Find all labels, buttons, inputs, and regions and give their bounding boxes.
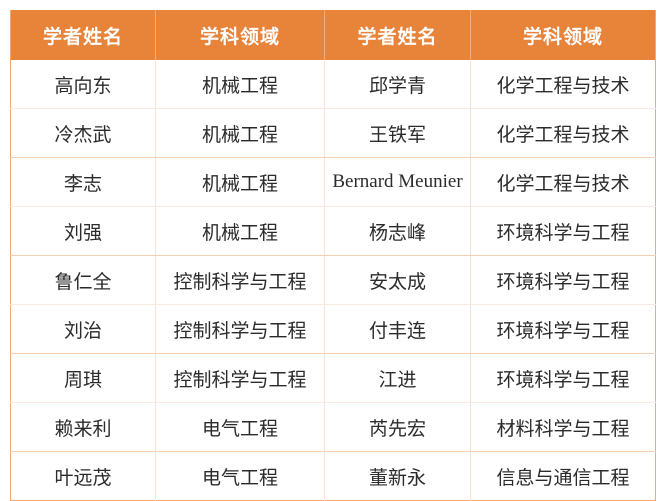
- cell-discipline-right: 环境科学与工程: [471, 207, 656, 256]
- column-header-scholar-name-right: 学者姓名: [325, 10, 471, 60]
- table-row: 刘强机械工程杨志峰环境科学与工程: [11, 207, 656, 256]
- table-row: 周琪控制科学与工程江进环境科学与工程: [11, 354, 656, 403]
- cell-discipline-left: 电气工程: [156, 452, 325, 501]
- cell-scholar-name-right: 芮先宏: [325, 403, 471, 452]
- cell-scholar-name-right: 付丰连: [325, 305, 471, 354]
- cell-scholar-name-left: 刘强: [11, 207, 156, 256]
- cell-discipline-right: 化学工程与技术: [471, 158, 656, 207]
- cell-discipline-left: 控制科学与工程: [156, 305, 325, 354]
- cell-scholar-name-right: 杨志峰: [325, 207, 471, 256]
- table-row: 赖来利电气工程芮先宏材料科学与工程: [11, 403, 656, 452]
- table-row: 李志机械工程Bernard Meunier化学工程与技术: [11, 158, 656, 207]
- cell-discipline-left: 机械工程: [156, 207, 325, 256]
- cell-scholar-name-left: 周琪: [11, 354, 156, 403]
- cell-discipline-left: 机械工程: [156, 109, 325, 158]
- table-row: 高向东机械工程邱学青化学工程与技术: [11, 60, 656, 109]
- cell-discipline-left: 机械工程: [156, 60, 325, 109]
- table-row: 叶远茂电气工程董新永信息与通信工程: [11, 452, 656, 501]
- cell-scholar-name-left: 刘治: [11, 305, 156, 354]
- cell-discipline-left: 控制科学与工程: [156, 354, 325, 403]
- cell-scholar-name-right: 江进: [325, 354, 471, 403]
- cell-discipline-right: 材料科学与工程: [471, 403, 656, 452]
- cell-scholar-name-right: 邱学青: [325, 60, 471, 109]
- table-header-row: 学者姓名 学科领域 学者姓名 学科领域: [11, 10, 656, 60]
- column-header-discipline-right: 学科领域: [471, 10, 656, 60]
- cell-scholar-name-right: 安太成: [325, 256, 471, 305]
- cell-scholar-name-left: 冷杰武: [11, 109, 156, 158]
- cell-discipline-left: 控制科学与工程: [156, 256, 325, 305]
- scholar-table-container: 学者姓名 学科领域 学者姓名 学科领域 高向东机械工程邱学青化学工程与技术冷杰武…: [0, 0, 665, 500]
- cell-discipline-left: 机械工程: [156, 158, 325, 207]
- cell-scholar-name-right: 董新永: [325, 452, 471, 501]
- cell-discipline-right: 环境科学与工程: [471, 256, 656, 305]
- cell-scholar-name-left: 鲁仁全: [11, 256, 156, 305]
- cell-scholar-name-left: 李志: [11, 158, 156, 207]
- table-header: 学者姓名 学科领域 学者姓名 学科领域: [11, 10, 656, 60]
- scholar-table: 学者姓名 学科领域 学者姓名 学科领域 高向东机械工程邱学青化学工程与技术冷杰武…: [10, 10, 656, 501]
- table-row: 刘治控制科学与工程付丰连环境科学与工程: [11, 305, 656, 354]
- cell-discipline-right: 环境科学与工程: [471, 305, 656, 354]
- cell-discipline-right: 化学工程与技术: [471, 60, 656, 109]
- table-row: 冷杰武机械工程王铁军化学工程与技术: [11, 109, 656, 158]
- cell-scholar-name-right: 王铁军: [325, 109, 471, 158]
- cell-discipline-right: 化学工程与技术: [471, 109, 656, 158]
- column-header-scholar-name-left: 学者姓名: [11, 10, 156, 60]
- cell-discipline-right: 信息与通信工程: [471, 452, 656, 501]
- table-row: 鲁仁全控制科学与工程安太成环境科学与工程: [11, 256, 656, 305]
- column-header-discipline-left: 学科领域: [156, 10, 325, 60]
- cell-scholar-name-left: 叶远茂: [11, 452, 156, 501]
- cell-discipline-right: 环境科学与工程: [471, 354, 656, 403]
- cell-scholar-name-right: Bernard Meunier: [325, 158, 471, 207]
- cell-scholar-name-left: 赖来利: [11, 403, 156, 452]
- cell-discipline-left: 电气工程: [156, 403, 325, 452]
- table-body: 高向东机械工程邱学青化学工程与技术冷杰武机械工程王铁军化学工程与技术李志机械工程…: [11, 60, 656, 501]
- cell-scholar-name-left: 高向东: [11, 60, 156, 109]
